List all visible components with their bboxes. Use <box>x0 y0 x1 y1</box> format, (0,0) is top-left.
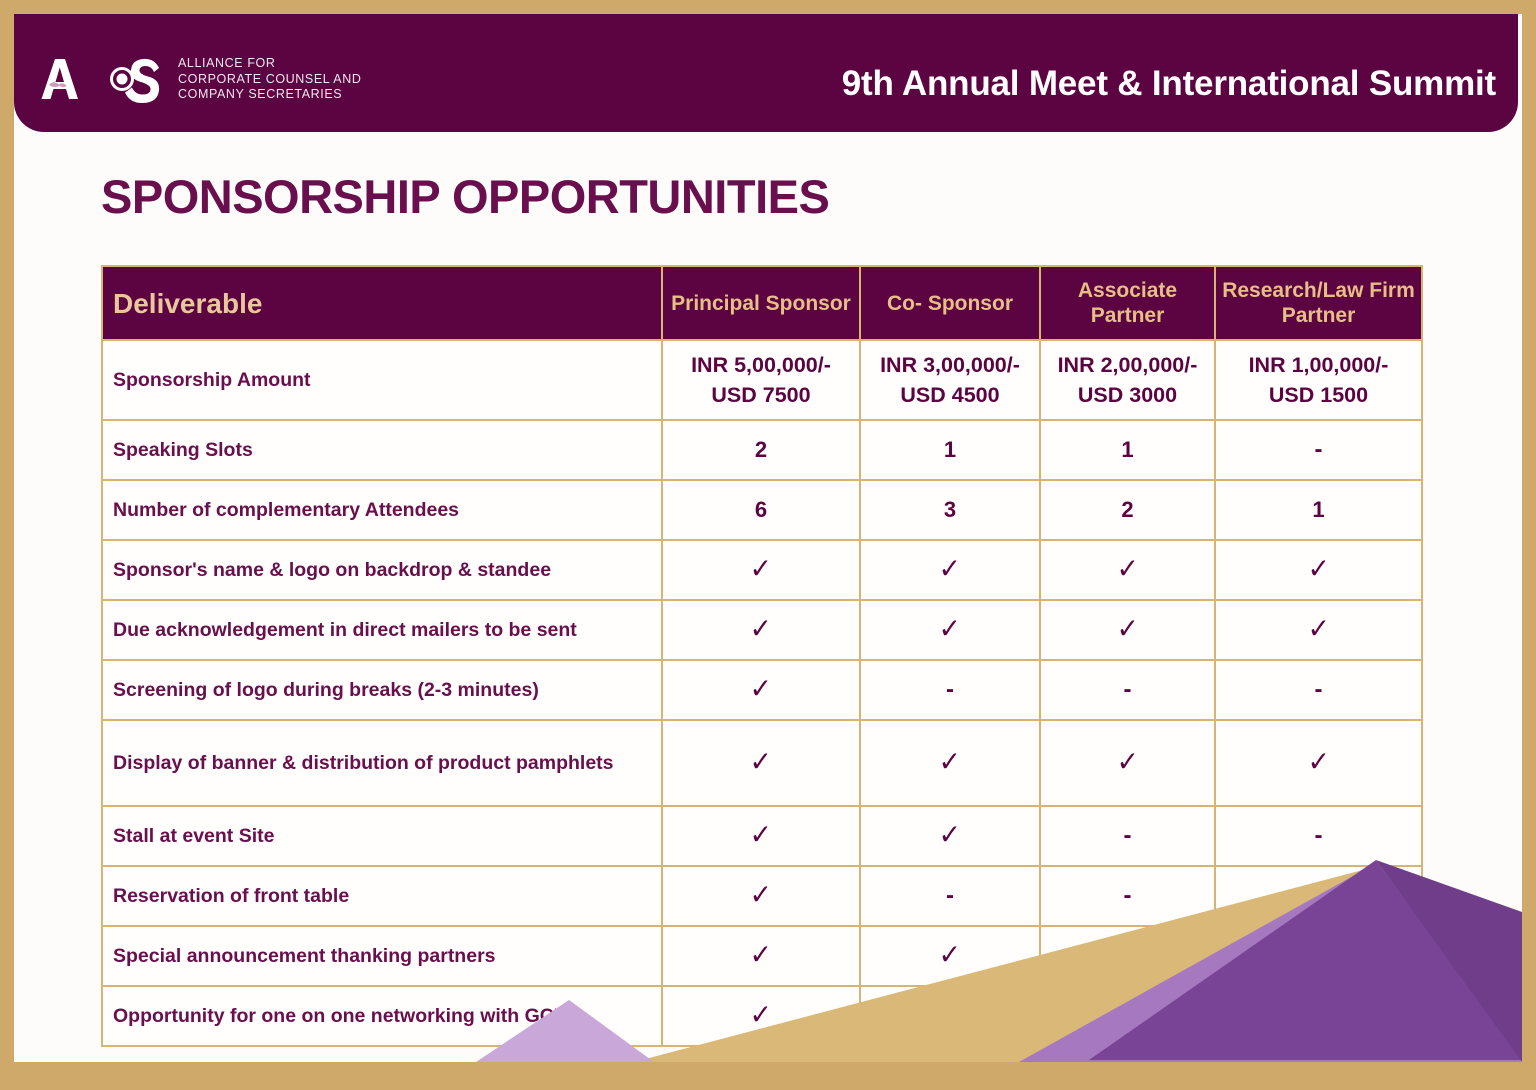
row-value-cell: ✓ <box>1215 540 1422 600</box>
dash-marker: - <box>1315 438 1323 462</box>
column-header-associate-partner: Associate Partner <box>1040 266 1215 340</box>
table-row: Opportunity for one on one networking wi… <box>102 986 1422 1046</box>
dash-marker: - <box>946 884 954 908</box>
row-value-cell: 3 <box>860 480 1040 540</box>
brand-line-1: ALLIANCE FOR <box>178 56 361 71</box>
row-label: Sponsorship Amount <box>102 340 662 420</box>
page-title: SPONSORSHIP OPPORTUNITIES <box>101 169 829 224</box>
table-row: Stall at event Site✓✓-- <box>102 806 1422 866</box>
row-value-cell: ✓ <box>662 660 860 720</box>
row-label: Stall at event Site <box>102 806 662 866</box>
row-value-cell: 2 <box>662 420 860 480</box>
check-icon: ✓ <box>939 615 961 643</box>
check-icon: ✓ <box>1307 941 1329 969</box>
header-bar: ALLIANCE FOR CORPORATE COUNSEL AND COMPA… <box>14 14 1518 132</box>
check-icon: ✓ <box>1116 555 1138 583</box>
check-icon: ✓ <box>1116 748 1138 776</box>
row-label: Opportunity for one on one networking wi… <box>102 986 662 1046</box>
table-row: Special announcement thanking partners✓✓… <box>102 926 1422 986</box>
row-value-cell: ✓ <box>860 926 1040 986</box>
check-icon: ✓ <box>939 821 961 849</box>
check-icon: ✓ <box>939 941 961 969</box>
bottom-gold-strip <box>0 1074 1536 1090</box>
row-label: Sponsor's name & logo on backdrop & stan… <box>102 540 662 600</box>
row-label: Due acknowledgement in direct mailers to… <box>102 600 662 660</box>
check-icon: ✓ <box>1307 748 1329 776</box>
row-value-cell: INR 1,00,000/-USD 1500 <box>1215 340 1422 420</box>
row-value-cell: - <box>1040 660 1215 720</box>
column-header-co-sponsor: Co- Sponsor <box>860 266 1040 340</box>
check-icon: ✓ <box>939 1001 961 1029</box>
table-head: Deliverable Principal Sponsor Co- Sponso… <box>102 266 1422 340</box>
row-value-cell: ✓ <box>860 720 1040 806</box>
table-row: Reservation of front table✓--- <box>102 866 1422 926</box>
column-header-principal-sponsor: Principal Sponsor <box>662 266 860 340</box>
sponsorship-table-container: Deliverable Principal Sponsor Co- Sponso… <box>101 265 1421 1047</box>
row-value-cell: - <box>1215 806 1422 866</box>
slide-root: ALLIANCE FOR CORPORATE COUNSEL AND COMPA… <box>0 0 1536 1090</box>
row-value-cell: ✓ <box>860 806 1040 866</box>
brand-org-name: ALLIANCE FOR CORPORATE COUNSEL AND COMPA… <box>178 56 361 102</box>
check-icon: ✓ <box>939 748 961 776</box>
event-title: 9th Annual Meet & International Summit <box>842 64 1496 104</box>
row-value-cell: INR 3,00,000/-USD 4500 <box>860 340 1040 420</box>
table-row: Speaking Slots211- <box>102 420 1422 480</box>
row-value-cell: - <box>860 660 1040 720</box>
check-icon: ✓ <box>750 675 772 703</box>
table-row: Number of complementary Attendees6321 <box>102 480 1422 540</box>
row-value-cell: 1 <box>1040 420 1215 480</box>
check-icon: ✓ <box>750 941 772 969</box>
check-icon: ✓ <box>939 555 961 583</box>
check-icon: ✓ <box>1307 555 1329 583</box>
dash-marker: - <box>946 678 954 702</box>
brand-lockup: ALLIANCE FOR CORPORATE COUNSEL AND COMPA… <box>36 52 361 106</box>
dash-marker: - <box>1124 678 1132 702</box>
row-value-cell: ✓ <box>1040 926 1215 986</box>
row-value-cell: ✓ <box>1040 986 1215 1046</box>
dash-marker: - <box>1315 678 1323 702</box>
row-value-cell: 1 <box>860 420 1040 480</box>
check-icon: ✓ <box>1116 941 1138 969</box>
brand-line-3: COMPANY SECRETARIES <box>178 87 361 102</box>
check-icon: ✓ <box>750 748 772 776</box>
row-label: Number of complementary Attendees <box>102 480 662 540</box>
dash-marker: - <box>1124 824 1132 848</box>
row-value-cell: 1 <box>1215 480 1422 540</box>
check-icon: ✓ <box>750 881 772 909</box>
dash-marker: - <box>1315 824 1323 848</box>
row-label: Display of banner & distribution of prod… <box>102 720 662 806</box>
row-value-cell: ✓ <box>662 926 860 986</box>
check-icon: ✓ <box>750 615 772 643</box>
column-header-deliverable: Deliverable <box>102 266 662 340</box>
row-value-cell: ✓ <box>662 866 860 926</box>
table-row: Sponsor's name & logo on backdrop & stan… <box>102 540 1422 600</box>
check-icon: ✓ <box>1307 1001 1329 1029</box>
check-icon: ✓ <box>750 1001 772 1029</box>
row-value-cell: - <box>1215 420 1422 480</box>
row-value-cell: - <box>1040 866 1215 926</box>
table-row: Screening of logo during breaks (2-3 min… <box>102 660 1422 720</box>
row-label: Special announcement thanking partners <box>102 926 662 986</box>
row-value-cell: ✓ <box>1040 540 1215 600</box>
row-value-cell: - <box>1040 806 1215 866</box>
row-value-cell: ✓ <box>662 600 860 660</box>
row-value-cell: INR 2,00,000/-USD 3000 <box>1040 340 1215 420</box>
row-value-cell: - <box>1215 660 1422 720</box>
check-icon: ✓ <box>1116 615 1138 643</box>
row-value-cell: ✓ <box>860 540 1040 600</box>
sponsorship-table: Deliverable Principal Sponsor Co- Sponso… <box>101 265 1423 1047</box>
page-canvas: ALLIANCE FOR CORPORATE COUNSEL AND COMPA… <box>14 14 1522 1062</box>
row-value-cell: ✓ <box>1215 986 1422 1046</box>
row-value-cell: ✓ <box>662 806 860 866</box>
check-icon: ✓ <box>750 555 772 583</box>
row-value-cell: INR 5,00,000/-USD 7500 <box>662 340 860 420</box>
row-label: Speaking Slots <box>102 420 662 480</box>
table-body: Sponsorship AmountINR 5,00,000/-USD 7500… <box>102 340 1422 1046</box>
dash-marker: - <box>1124 884 1132 908</box>
check-icon: ✓ <box>1116 1001 1138 1029</box>
row-value-cell: ✓ <box>662 540 860 600</box>
row-value-cell: ✓ <box>1215 600 1422 660</box>
dash-marker: - <box>1315 884 1323 908</box>
row-value-cell: - <box>860 866 1040 926</box>
row-label: Reservation of front table <box>102 866 662 926</box>
table-row: Display of banner & distribution of prod… <box>102 720 1422 806</box>
check-icon: ✓ <box>750 821 772 849</box>
row-value-cell: ✓ <box>860 986 1040 1046</box>
accs-logo-icon <box>36 52 164 106</box>
row-label: Screening of logo during breaks (2-3 min… <box>102 660 662 720</box>
column-header-research-law-firm-partner: Research/Law Firm Partner <box>1215 266 1422 340</box>
row-value-cell: ✓ <box>1215 926 1422 986</box>
row-value-cell: 6 <box>662 480 860 540</box>
check-icon: ✓ <box>1307 615 1329 643</box>
table-row: Sponsorship AmountINR 5,00,000/-USD 7500… <box>102 340 1422 420</box>
row-value-cell: ✓ <box>1040 720 1215 806</box>
row-value-cell: 2 <box>1040 480 1215 540</box>
row-value-cell: ✓ <box>1040 600 1215 660</box>
table-row: Due acknowledgement in direct mailers to… <box>102 600 1422 660</box>
brand-line-2: CORPORATE COUNSEL AND <box>178 72 361 87</box>
row-value-cell: ✓ <box>1215 720 1422 806</box>
row-value-cell: ✓ <box>662 720 860 806</box>
row-value-cell: ✓ <box>860 600 1040 660</box>
row-value-cell: ✓ <box>662 986 860 1046</box>
row-value-cell: - <box>1215 866 1422 926</box>
table-header-row: Deliverable Principal Sponsor Co- Sponso… <box>102 266 1422 340</box>
